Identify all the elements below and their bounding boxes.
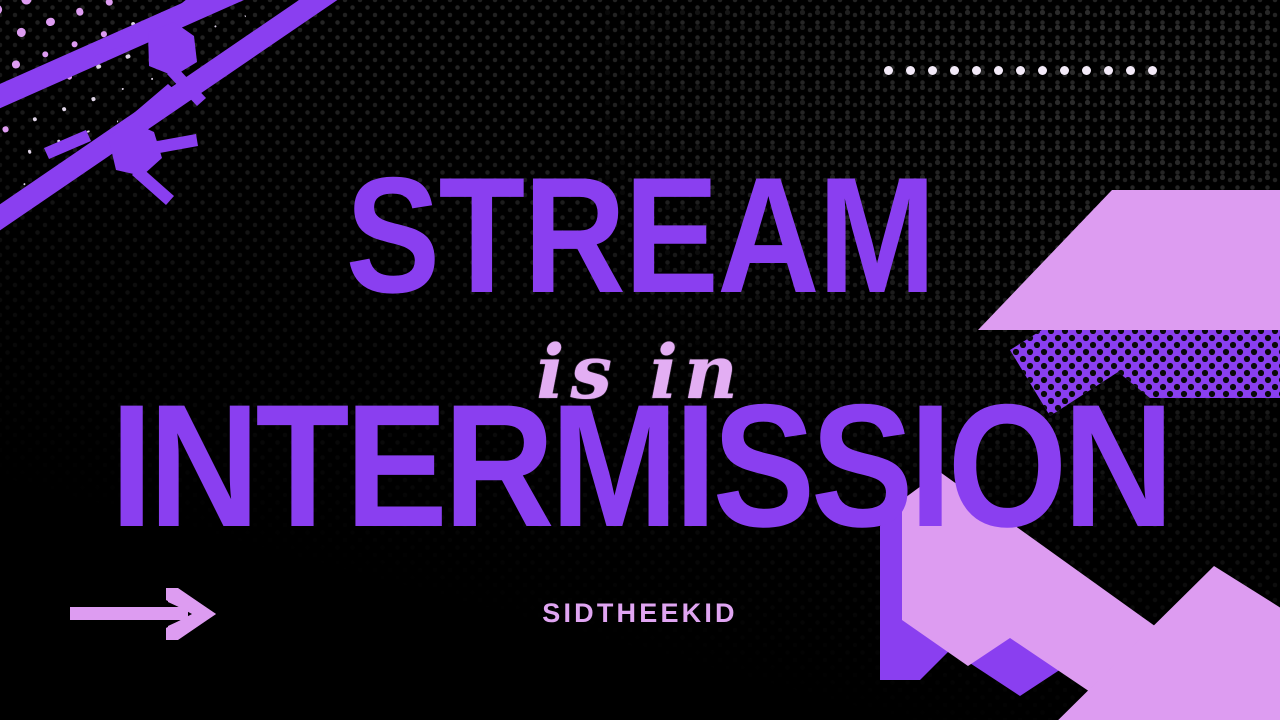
chevron-arrow-icon	[900, 180, 1280, 400]
halftone-dot-icon	[71, 40, 79, 48]
dot-row-icon	[884, 66, 1157, 75]
halftone-dot-icon	[23, 183, 26, 186]
halftone-dot-icon	[57, 140, 61, 144]
halftone-dot-icon	[2, 126, 9, 133]
halftone-dot-icon	[62, 107, 67, 112]
dot-icon	[1016, 66, 1025, 75]
halftone-dot-icon	[41, 50, 50, 59]
halftone-dot-icon	[53, 173, 55, 175]
halftone-dot-icon	[185, 35, 188, 38]
halftone-dot-icon	[181, 68, 183, 70]
halftone-dot-icon	[36, 83, 44, 91]
halftone-dot-icon	[66, 73, 73, 80]
headline-line-1: STREAM	[346, 168, 935, 303]
halftone-dot-icon	[105, 0, 114, 6]
barbed-wire-icon	[0, 0, 360, 290]
halftone-dot-icon	[11, 60, 21, 70]
halftone-dot-icon	[75, 7, 85, 17]
halftone-dot-icon	[45, 17, 56, 28]
halftone-dot-icon	[151, 78, 153, 80]
halftone-dot-icon	[15, 26, 26, 37]
halftone-dot-icon	[160, 11, 165, 16]
streamer-handle: SIDTHEEKID	[542, 598, 738, 629]
headline-script-text: is in	[536, 336, 743, 410]
halftone-dot-icon	[87, 130, 90, 133]
dot-icon	[1060, 66, 1069, 75]
dot-icon	[994, 66, 1003, 75]
halftone-dot-icon	[96, 64, 102, 70]
halftone-dot-icon	[100, 31, 107, 38]
halftone-dot-icon	[215, 25, 218, 28]
halftone-dot-icon	[155, 44, 159, 48]
halftone-dot-icon	[6, 93, 15, 102]
halftone-dot-icon	[20, 0, 32, 6]
dot-icon	[950, 66, 959, 75]
dot-icon	[906, 66, 915, 75]
dot-icon	[1038, 66, 1047, 75]
halftone-dot-icon	[130, 21, 136, 27]
halftone-dot-icon	[27, 149, 32, 154]
headline-line-2: INTERMISSION	[110, 395, 1169, 539]
dot-icon	[1082, 66, 1091, 75]
halftone-dot-icon	[32, 116, 38, 122]
dot-icon	[1104, 66, 1113, 75]
dot-icon	[1126, 66, 1135, 75]
halftone-dot-icon	[190, 2, 194, 6]
halftone-dot-icon	[91, 97, 95, 101]
halftone-dot-icon	[116, 120, 118, 122]
dot-icon	[884, 66, 893, 75]
halftone-dot-icon	[244, 15, 246, 17]
arrow-right-icon	[70, 588, 218, 640]
halftone-dot-icon	[0, 3, 4, 16]
dot-icon	[928, 66, 937, 75]
halftone-dot-icon	[121, 87, 124, 90]
dot-icon	[972, 66, 981, 75]
dot-icon	[1148, 66, 1157, 75]
halftone-dot-icon	[125, 54, 130, 59]
barbed-wire-icon	[0, 0, 310, 120]
intermission-screen: STREAM INTERMISSION is in SIDTHEEKID	[0, 0, 1280, 720]
